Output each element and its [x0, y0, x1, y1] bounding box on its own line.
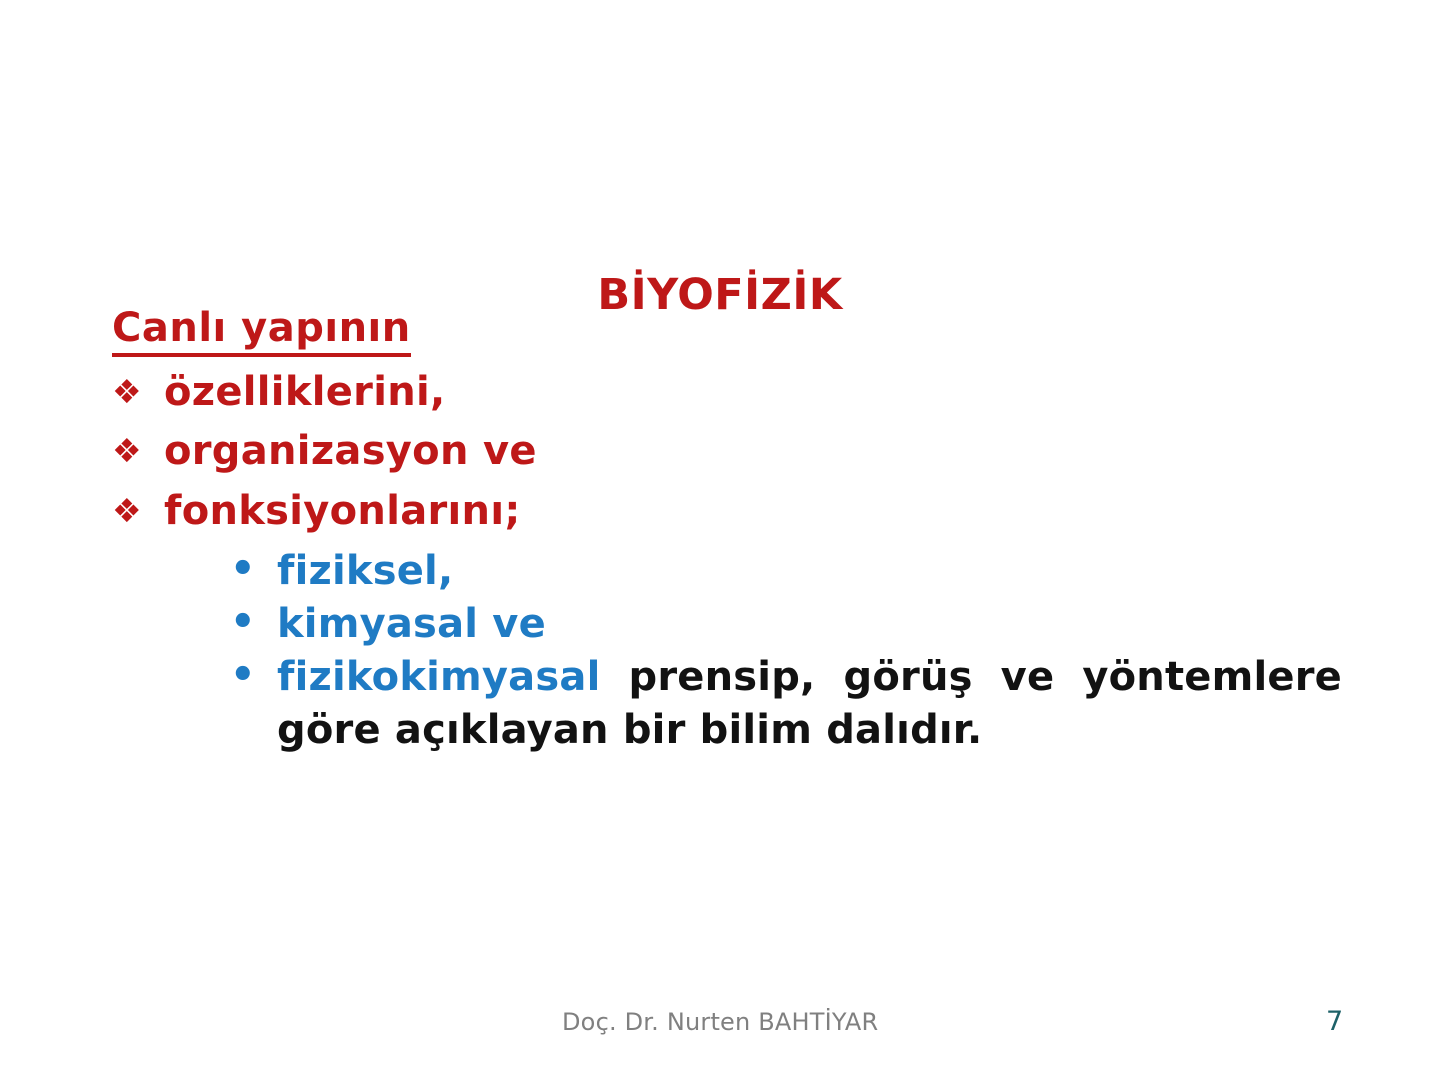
list-item: ❖ özelliklerini,: [112, 363, 1342, 422]
footer-author: Doç. Dr. Nurten BAHTİYAR: [562, 1008, 878, 1036]
blue-bullet-list: • fiziksel, • kimyasal ve •fizikokimyasa…: [112, 545, 1342, 758]
slide-canvas: BİYOFİZİK Canlı yapının ❖ özelliklerini,…: [0, 0, 1440, 1080]
list-item-label: fonksiyonlarını;: [164, 488, 521, 534]
list-item-label: kimyasal ve: [277, 601, 546, 647]
diamond-bullet-icon: ❖: [112, 423, 142, 480]
diamond-bullet-icon: ❖: [112, 364, 142, 421]
red-bullet-list: ❖ özelliklerini, ❖ organizasyon ve ❖ fon…: [112, 363, 1342, 541]
list-item-label: fiziksel,: [277, 548, 453, 594]
lead-heading: Canlı yapının: [112, 305, 411, 357]
dot-bullet-icon: •: [230, 596, 256, 649]
list-item: • kimyasal ve: [222, 598, 1342, 651]
diamond-bullet-icon: ❖: [112, 483, 142, 540]
page-number: 7: [1326, 1006, 1343, 1037]
slide-body: Canlı yapının ❖ özelliklerini, ❖ organiz…: [112, 305, 1342, 758]
list-item-label: özelliklerini,: [164, 369, 446, 415]
list-item-definition: •fizikokimyasal prensip, görüş ve yöntem…: [222, 651, 1342, 757]
list-item-label: organizasyon ve: [164, 428, 537, 474]
list-item: ❖ organizasyon ve: [112, 422, 1342, 481]
list-item: ❖ fonksiyonlarını;: [112, 482, 1342, 541]
dot-bullet-icon: •: [230, 543, 256, 596]
definition-term: fizikokimyasal: [277, 654, 600, 700]
dot-bullet-icon: •: [230, 649, 256, 702]
list-item: • fiziksel,: [222, 545, 1342, 598]
